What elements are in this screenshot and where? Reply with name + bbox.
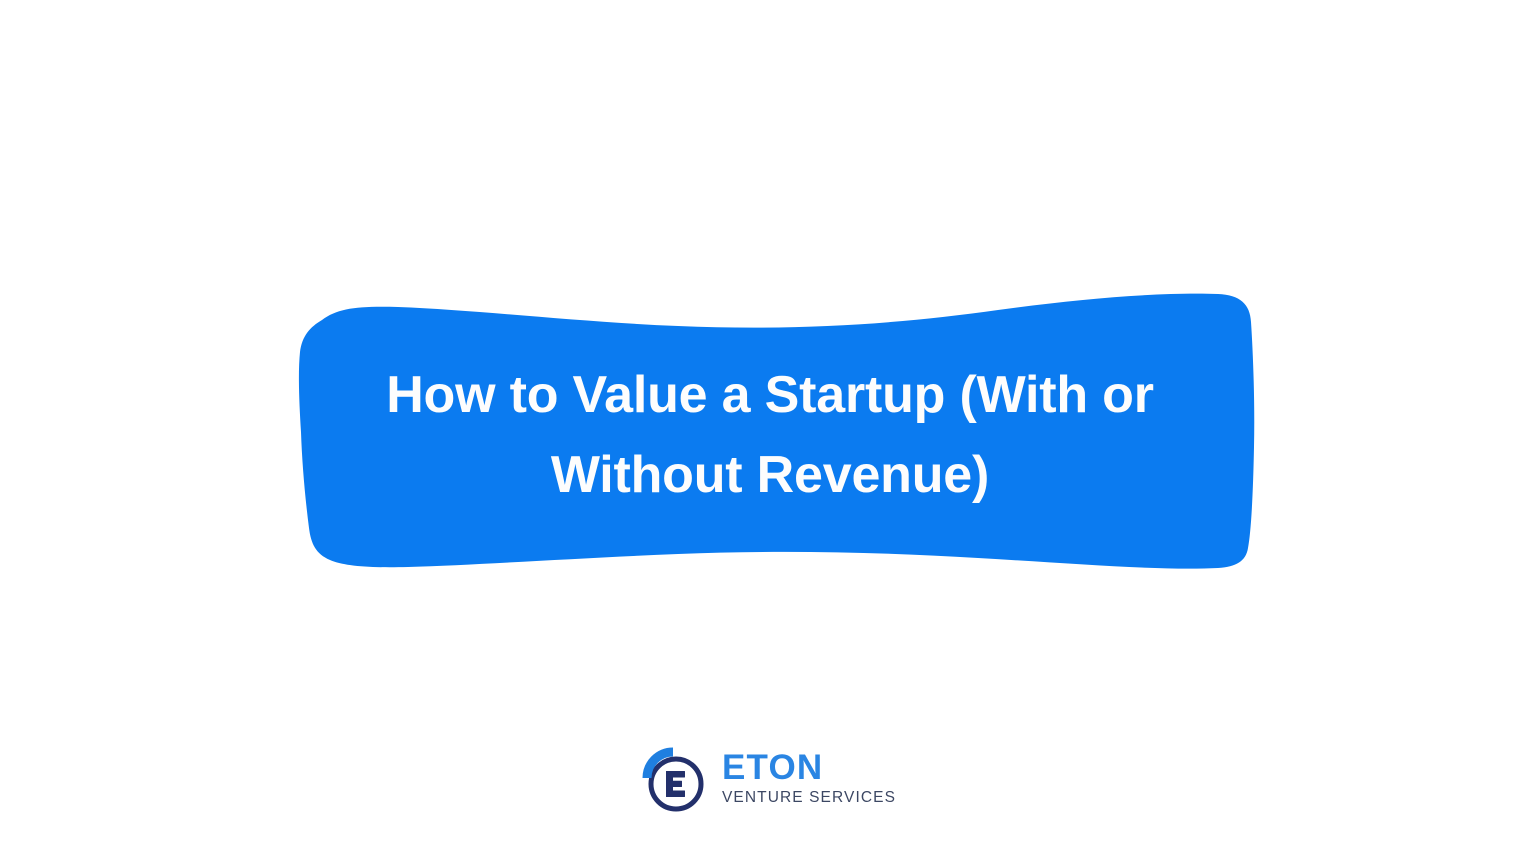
logo-tagline: VENTURE SERVICES: [722, 788, 896, 808]
title-card: How to Value a Startup (With or Without …: [0, 0, 1536, 864]
logo-wordmark: ETON VENTURE SERVICES: [722, 751, 896, 810]
logo-name: ETON: [722, 751, 823, 785]
page-title: How to Value a Startup (With or Without …: [318, 355, 1222, 515]
logo-letter-e: [666, 771, 685, 797]
eton-circle-e-icon: [640, 746, 708, 814]
brand-logo: ETON VENTURE SERVICES: [0, 738, 1536, 822]
